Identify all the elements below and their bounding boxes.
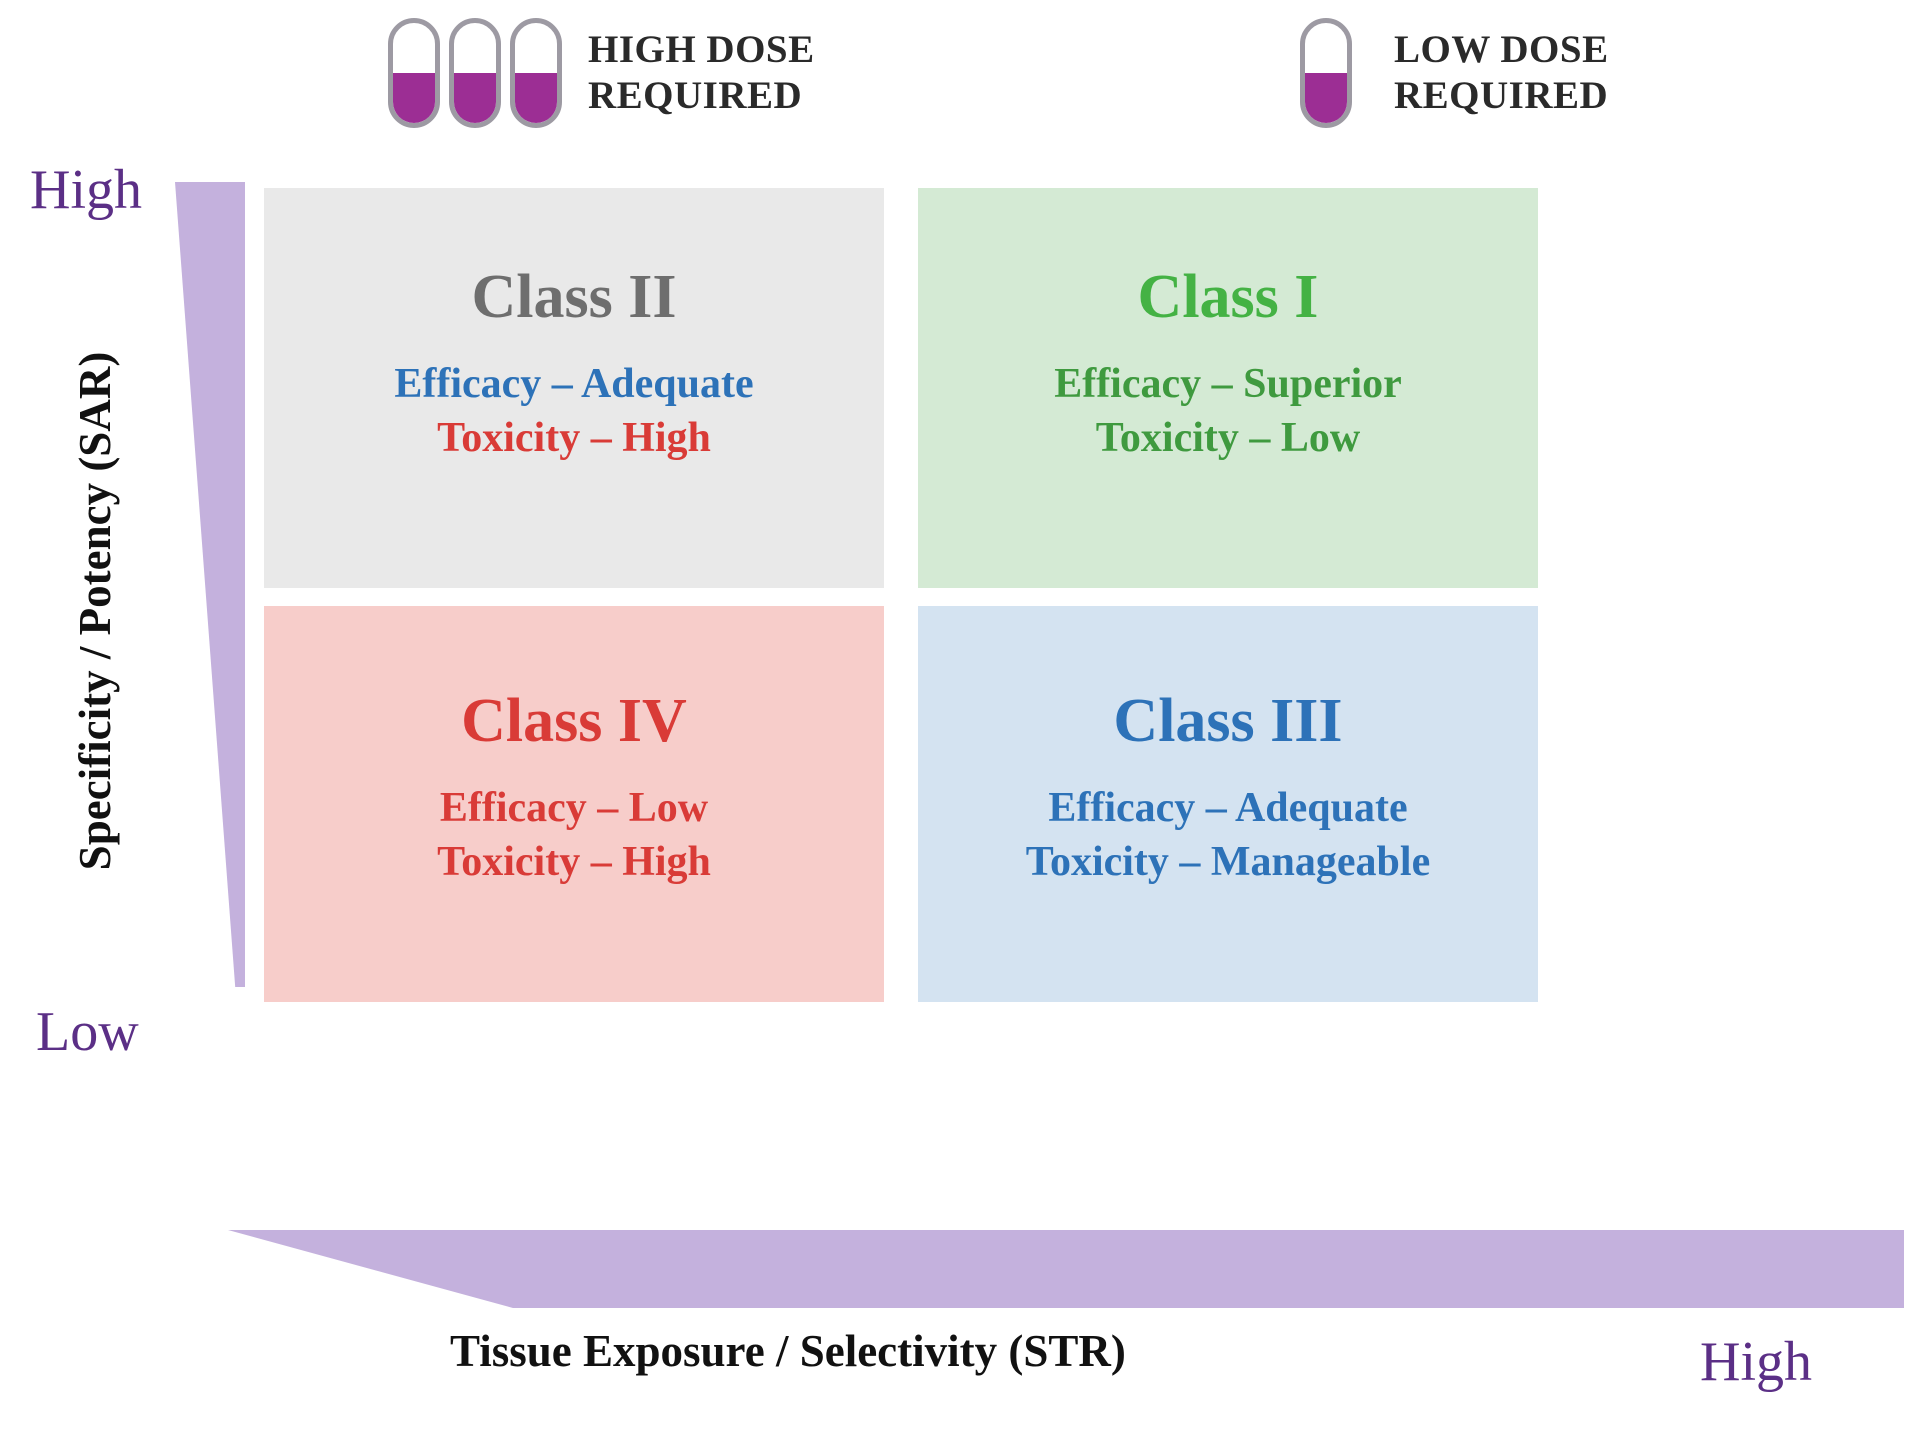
quadrant-class-2-efficacy: Efficacy – Adequate — [394, 358, 753, 412]
y-axis-wedge-icon — [175, 182, 245, 987]
drug-classification-matrix-diagram: HIGH DOSE REQUIRED LOW DOSE REQUIRED Hig… — [0, 0, 1920, 1448]
quadrant-class-3-efficacy: Efficacy – Adequate — [1026, 782, 1430, 836]
quadrant-class-1: Class I Efficacy – Superior Toxicity – L… — [918, 188, 1538, 588]
quadrant-class-1-details: Efficacy – Superior Toxicity – Low — [1054, 358, 1402, 466]
y-axis-title: Specificity / Potency (SAR) — [69, 331, 121, 891]
capsule-icon — [388, 18, 440, 128]
legend-high-dose: HIGH DOSE REQUIRED — [388, 18, 815, 128]
x-axis-wedge-icon — [228, 1230, 1904, 1308]
quadrant-class-2-title: Class II — [471, 266, 676, 328]
capsule-group-low-dose — [1300, 18, 1352, 128]
y-axis-high-label: High — [30, 158, 142, 222]
quadrant-class-1-efficacy: Efficacy – Superior — [1054, 358, 1402, 412]
capsule-group-high-dose — [388, 18, 562, 128]
legend-high-dose-label: HIGH DOSE REQUIRED — [588, 27, 815, 119]
capsule-icon — [510, 18, 562, 128]
x-axis-title: Tissue Exposure / Selectivity (STR) — [450, 1325, 1126, 1377]
quadrant-class-3-toxicity: Toxicity – Manageable — [1026, 836, 1430, 890]
y-axis-low-label: Low — [36, 1000, 139, 1064]
quadrant-class-4-details: Efficacy – Low Toxicity – High — [437, 782, 711, 890]
quadrant-class-3-details: Efficacy – Adequate Toxicity – Manageabl… — [1026, 782, 1430, 890]
quadrant-class-1-title: Class I — [1138, 266, 1319, 328]
quadrant-class-4: Class IV Efficacy – Low Toxicity – High — [264, 606, 884, 1002]
legend-low-dose: LOW DOSE REQUIRED — [1300, 18, 1609, 128]
quadrant-class-3: Class III Efficacy – Adequate Toxicity –… — [918, 606, 1538, 1002]
quadrant-class-4-title: Class IV — [461, 690, 687, 752]
quadrant-class-1-toxicity: Toxicity – Low — [1054, 412, 1402, 466]
quadrant-class-2-details: Efficacy – Adequate Toxicity – High — [394, 358, 753, 466]
quadrant-class-4-toxicity: Toxicity – High — [437, 836, 711, 890]
x-axis-high-label: High — [1700, 1330, 1812, 1394]
quadrant-class-2-toxicity: Toxicity – High — [394, 412, 753, 466]
capsule-icon — [1300, 18, 1352, 128]
quadrant-class-2: Class II Efficacy – Adequate Toxicity – … — [264, 188, 884, 588]
quadrant-class-3-title: Class III — [1113, 690, 1342, 752]
quadrant-class-4-efficacy: Efficacy – Low — [437, 782, 711, 836]
capsule-icon — [449, 18, 501, 128]
legend-low-dose-label: LOW DOSE REQUIRED — [1394, 27, 1609, 119]
